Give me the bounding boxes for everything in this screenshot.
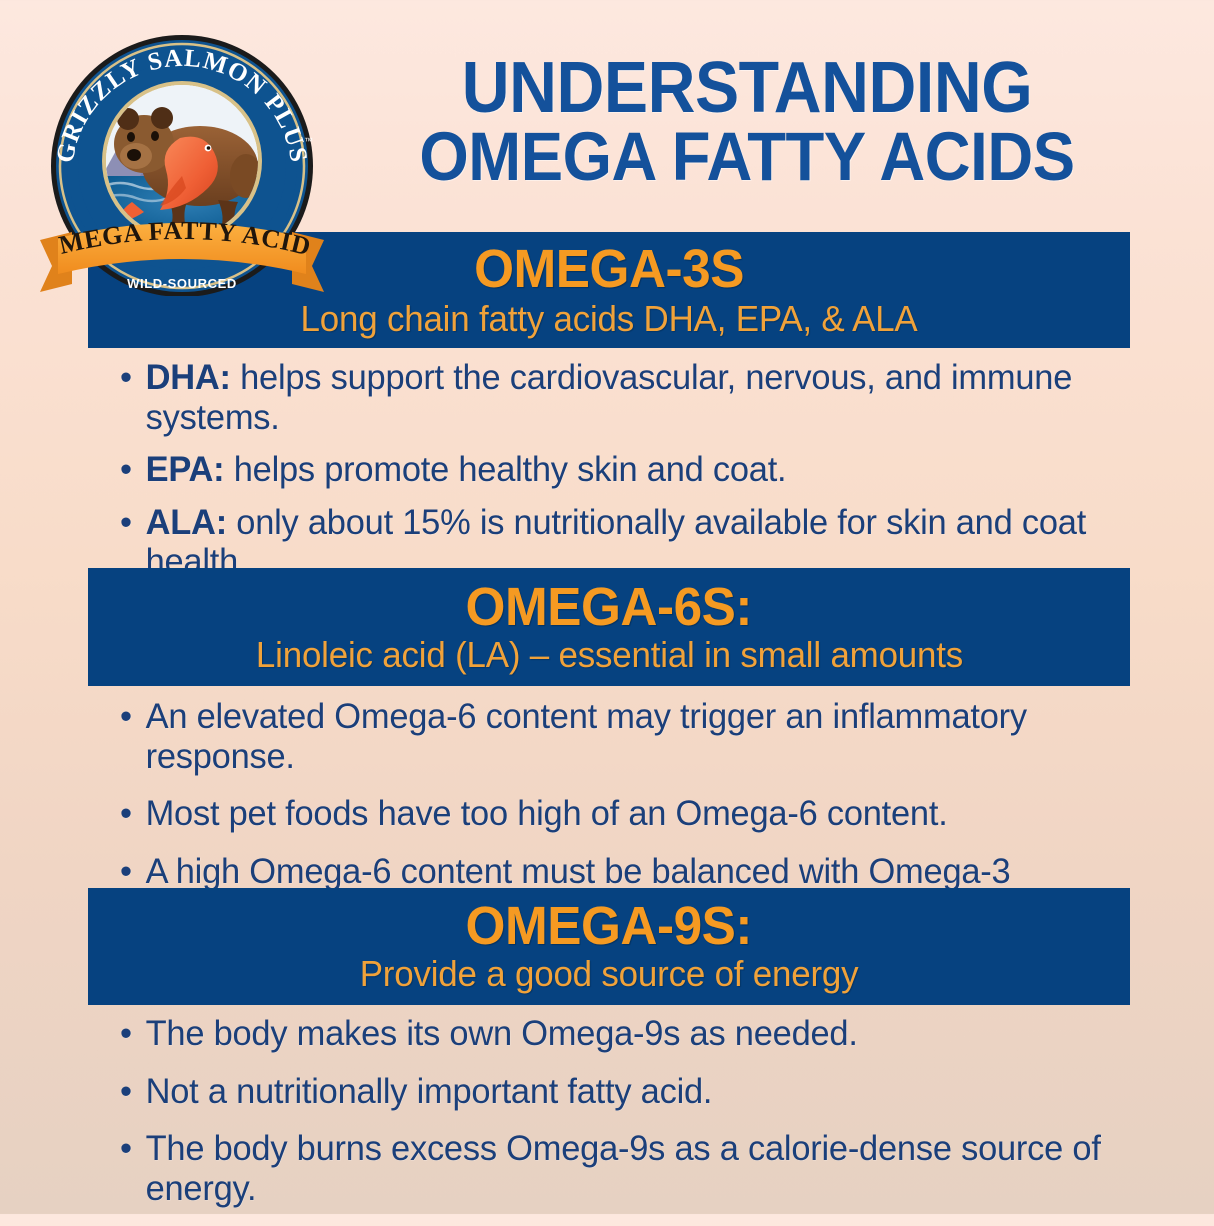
list-item: •Most pet foods have too high of an Omeg…	[118, 794, 1103, 834]
bullet-text: The body makes its own Omega-9s as neede…	[146, 1014, 858, 1053]
bullet-text: helps support the cardiovascular, nervou…	[146, 358, 1073, 437]
band-title-omega6: OMEGA-6S:	[466, 580, 752, 635]
bullet-label: EPA:	[146, 450, 225, 489]
logo-subribbon-text: WILD-SOURCED	[127, 276, 237, 291]
header: GRIZZLY SALMON PLUS ™	[0, 0, 1214, 232]
section-band-omega9: OMEGA-9S: Provide a good source of energ…	[88, 888, 1130, 1005]
band-title-omega9: OMEGA-9S:	[466, 899, 752, 954]
list-item: •An elevated Omega-6 content may trigger…	[118, 697, 1103, 776]
bullet-marker-icon: •	[120, 1014, 132, 1054]
band-subtitle-omega6: Linoleic acid (LA) – essential in small …	[255, 635, 962, 675]
bullet-text: helps promote healthy skin and coat.	[224, 450, 786, 489]
section-band-omega6: OMEGA-6S: Linoleic acid (LA) – essential…	[88, 568, 1130, 686]
bullet-label: DHA:	[146, 358, 231, 397]
bullet-text: An elevated Omega-6 content may trigger …	[146, 697, 1027, 776]
list-item: •The body makes its own Omega-9s as need…	[118, 1014, 1103, 1054]
bullet-marker-icon: •	[120, 450, 132, 490]
bullet-marker-icon: •	[120, 358, 132, 398]
list-item: •DHA: helps support the cardiovascular, …	[118, 358, 1103, 437]
infographic-page: GRIZZLY SALMON PLUS ™	[0, 0, 1214, 1214]
list-item: •Not a nutritionally important fatty aci…	[118, 1072, 1103, 1112]
title-line-1: UNDERSTANDING	[369, 54, 1125, 124]
title-line-2: OMEGA FATTY ACIDS	[369, 124, 1125, 191]
bullet-text: Most pet foods have too high of an Omega…	[146, 794, 948, 833]
bullet-marker-icon: •	[120, 794, 132, 834]
list-item: •The body burns excess Omega-9s as a cal…	[118, 1129, 1103, 1208]
list-item: •EPA: helps promote healthy skin and coa…	[118, 450, 1103, 490]
bullet-text: The body burns excess Omega-9s as a calo…	[146, 1129, 1101, 1208]
bullet-text: Not a nutritionally important fatty acid…	[146, 1072, 713, 1111]
bullet-list-omega3: •DHA: helps support the cardiovascular, …	[118, 358, 1118, 595]
grizzly-salmon-plus-logo: GRIZZLY SALMON PLUS ™	[32, 26, 332, 296]
bullet-label: ALA:	[146, 503, 227, 542]
bullet-marker-icon: •	[120, 1072, 132, 1112]
band-subtitle-omega3: Long chain fatty acids DHA, EPA, & ALA	[300, 299, 917, 339]
bullet-marker-icon: •	[120, 697, 132, 737]
page-title: UNDERSTANDING OMEGA FATTY ACIDS	[336, 54, 1158, 191]
logo-trademark: ™	[304, 136, 313, 146]
band-title-omega3: OMEGA-3S	[474, 242, 744, 297]
bullet-marker-icon: •	[120, 503, 132, 543]
bullet-marker-icon: •	[120, 1129, 132, 1169]
bullet-marker-icon: •	[120, 852, 132, 892]
band-subtitle-omega9: Provide a good source of energy	[360, 954, 859, 994]
bullet-list-omega9: •The body makes its own Omega-9s as need…	[118, 1014, 1118, 1226]
